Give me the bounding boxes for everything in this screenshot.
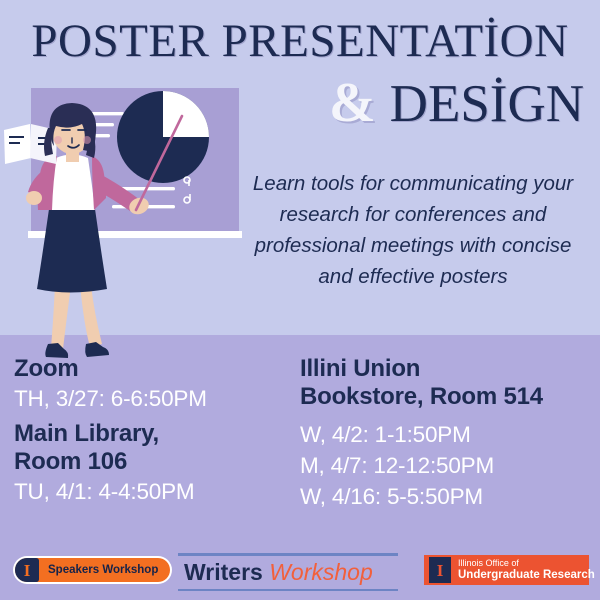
session-location: Zoom: [14, 355, 294, 383]
session-entry: Zoom TH, 3/27: 6-6:50PM: [14, 355, 294, 414]
speakers-workshop-pill: I Speakers Workshop: [15, 558, 170, 582]
footer-logos: I Speakers Workshop Writers Workshop I I…: [0, 548, 600, 600]
session-time: M, 4/7: 12-12:50PM: [300, 450, 595, 481]
poster: POSTER PRESENTATİON &DESİGN Learn tools …: [0, 0, 600, 600]
writers-workshop-logo[interactable]: Writers Workshop: [178, 553, 398, 591]
session-time: W, 4/2: 1-1:50PM: [300, 419, 595, 450]
speakers-workshop-logo[interactable]: I Speakers Workshop: [13, 556, 172, 584]
writers-workshop-wordmark: Writers Workshop: [178, 556, 398, 589]
undergraduate-research-line-1: Illinois Office of: [458, 558, 595, 569]
illinois-i-icon: I: [429, 557, 451, 583]
speakers-workshop-label: Speakers Workshop: [48, 564, 158, 576]
writers-workshop-label-part2: Workshop: [269, 559, 373, 585]
session-time: W, 4/16: 5-5:50PM: [300, 481, 595, 512]
session-entry: Illini Union Bookstore, Room 514: [300, 355, 595, 411]
title-design-word: DESİGN: [390, 75, 584, 133]
illinois-i-glyph: I: [437, 562, 444, 579]
poster-title: POSTER PRESENTATİON &DESİGN: [0, 14, 600, 68]
undergraduate-research-line-2: Undergraduate Research: [458, 569, 595, 582]
schedule-column-right: Illini Union Bookstore, Room 514 W, 4/2:…: [300, 355, 595, 512]
session-location-line-1: Illini Union: [300, 355, 595, 383]
illinois-i-icon: I: [15, 558, 39, 582]
writers-workshop-rule-bottom: [178, 589, 398, 592]
undergraduate-research-logo[interactable]: I Illinois Office of Undergraduate Resea…: [424, 555, 589, 585]
title-line-1: POSTER PRESENTATİON: [0, 14, 600, 68]
undergraduate-research-wordmark: Illinois Office of Undergraduate Researc…: [458, 558, 595, 582]
session-location-line-1: Main Library,: [14, 420, 294, 448]
session-time: TU, 4/1: 4-4:50PM: [14, 476, 294, 507]
schedule-section: Zoom TH, 3/27: 6-6:50PM Main Library, Ro…: [0, 355, 600, 545]
session-location-line-2: Bookstore, Room 514: [300, 383, 595, 411]
writers-workshop-label-part1: Writers: [184, 559, 263, 585]
poster-description: Learn tools for communicating your resea…: [238, 168, 588, 292]
session-location-line-2: Room 106: [14, 448, 294, 476]
ampersand-glyph: &: [329, 72, 376, 134]
schedule-column-left: Zoom TH, 3/27: 6-6:50PM Main Library, Ro…: [14, 355, 294, 513]
session-time: TH, 3/27: 6-6:50PM: [14, 383, 294, 414]
illinois-i-glyph: I: [24, 562, 31, 579]
title-line-2: &DESİGN: [0, 72, 600, 135]
session-entry: Main Library, Room 106 TU, 4/1: 4-4:50PM: [14, 420, 294, 507]
